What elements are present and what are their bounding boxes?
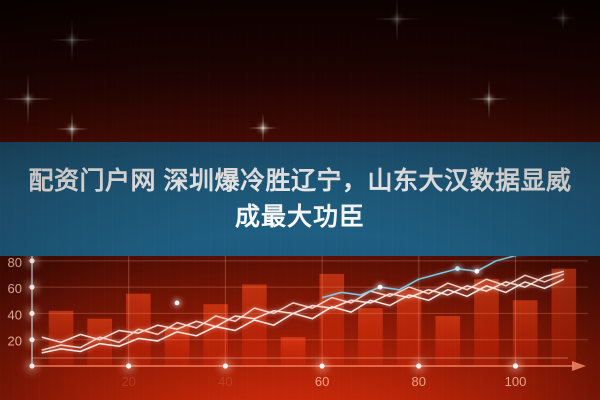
- svg-text:80: 80: [412, 374, 426, 389]
- svg-text:60: 60: [315, 374, 329, 389]
- svg-text:80: 80: [8, 255, 22, 270]
- title-line-2: 成最大功臣: [235, 199, 365, 235]
- svg-text:40: 40: [218, 374, 232, 389]
- svg-text:60: 60: [8, 281, 22, 296]
- page-title: 配资门户网 深圳爆冷胜辽宁，山东大汉数据显威 成最大功臣: [0, 142, 600, 256]
- svg-text:40: 40: [8, 307, 22, 322]
- promo-banner: 2040608010020406080100 配资门户网 深圳爆冷胜辽宁，山东大…: [0, 0, 600, 400]
- svg-text:20: 20: [121, 374, 135, 389]
- svg-text:20: 20: [8, 334, 22, 349]
- svg-text:100: 100: [505, 374, 527, 389]
- title-line-1: 配资门户网 深圳爆冷胜辽宁，山东大汉数据显威: [29, 163, 572, 199]
